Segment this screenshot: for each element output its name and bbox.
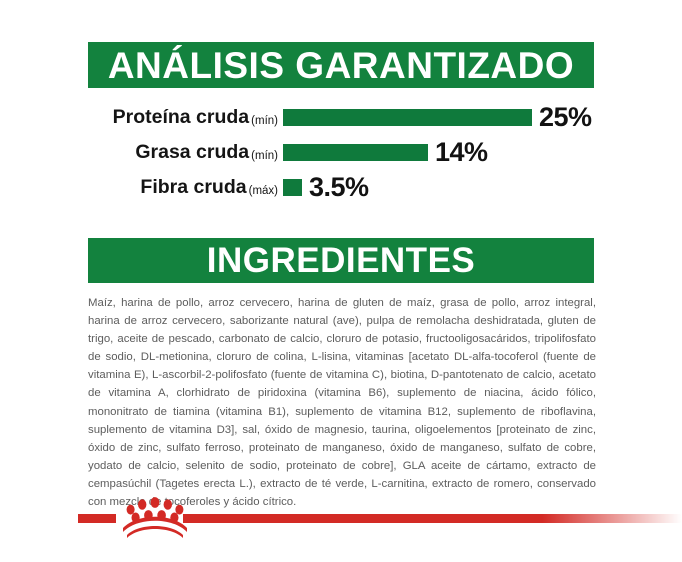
nutrient-name-fat: Grasa cruda [135,141,249,163]
analysis-bar-wrap-fiber: 3.5% [283,172,369,203]
analysis-row-fat: Grasa cruda(mín) 14% [0,135,682,170]
analysis-section-banner: ANÁLISIS GARANTIZADO [88,42,594,88]
ingredients-section-banner: INGREDIENTES [88,238,594,283]
analysis-value-protein: 25% [539,102,592,133]
analysis-row-fiber: Fibra cruda(máx) 3.5% [0,170,682,205]
analysis-value-fiber: 3.5% [309,172,369,203]
analysis-value-fat: 14% [435,137,488,168]
nutrition-label-page: ANÁLISIS GARANTIZADO Proteína cruda(mín)… [0,0,682,562]
analysis-bar-protein [283,109,532,126]
nutrient-qualifier-protein: (mín) [251,115,278,127]
ingredients-section-title: INGREDIENTES [207,243,476,278]
analysis-label-fiber: Fibra cruda(máx) [0,176,283,199]
analysis-bar-wrap-protein: 25% [283,102,592,133]
analysis-bar-fat [283,144,428,161]
royal-canin-crown-icon [118,495,192,539]
guaranteed-analysis-chart: Proteína cruda(mín) 25% Grasa cruda(mín)… [0,100,682,205]
analysis-section-title: ANÁLISIS GARANTIZADO [108,47,574,84]
analysis-label-protein: Proteína cruda(mín) [0,106,283,129]
analysis-bar-wrap-fat: 14% [283,137,488,168]
analysis-label-fat: Grasa cruda(mín) [0,141,283,164]
analysis-row-protein: Proteína cruda(mín) 25% [0,100,682,135]
nutrient-name-protein: Proteína cruda [113,106,250,128]
nutrient-name-fiber: Fibra cruda [140,176,246,198]
ingredients-list-text: Maíz, harina de pollo, arroz cervecero, … [88,294,596,511]
nutrient-qualifier-fat: (mín) [251,150,278,162]
footer-rule-right-segment [183,514,682,523]
nutrient-qualifier-fiber: (máx) [249,185,278,197]
analysis-bar-fiber [283,179,302,196]
footer-rule-left-segment [78,514,116,523]
